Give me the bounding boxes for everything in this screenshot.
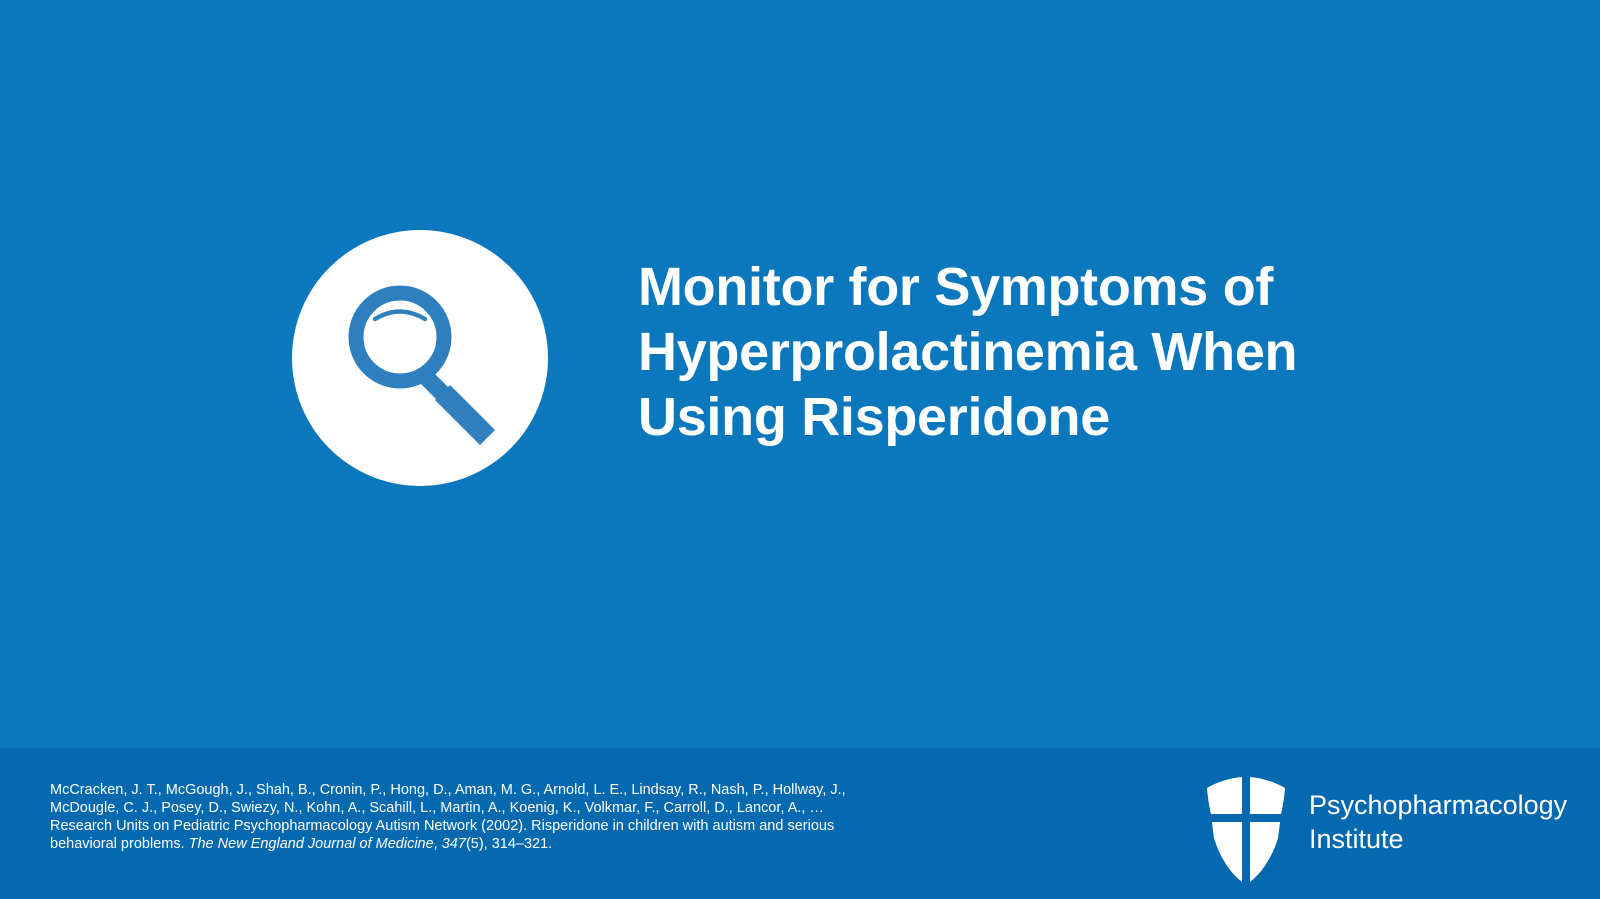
icon-badge [292,230,548,486]
citation-volume: 347 [442,836,466,852]
citation-journal: The New England Journal of Medicine [189,836,434,852]
citation-issue: (5), [466,836,492,852]
brand-lockup: Psychopharmacology Institute [1205,776,1567,894]
citation-year: (2002). [481,818,527,834]
brand-name: Psychopharmacology Institute [1309,776,1567,856]
title-block: Monitor for Symptoms of Hyperprolactinem… [638,255,1338,450]
slide-canvas: Monitor for Symptoms of Hyperprolactinem… [0,0,1600,899]
brand-name-line-2: Institute [1309,822,1567,856]
citation-pages: 314–321. [492,836,552,852]
shield-logo-icon [1205,776,1287,894]
slide-body: Monitor for Symptoms of Hyperprolactinem… [0,0,1600,748]
page-title: Monitor for Symptoms of Hyperprolactinem… [638,255,1338,450]
slide-footer: McCracken, J. T., McGough, J., Shah, B.,… [0,748,1600,899]
brand-name-line-1: Psychopharmacology [1309,788,1567,822]
citation-reference: McCracken, J. T., McGough, J., Shah, B.,… [50,781,880,853]
magnifying-glass-icon [292,230,548,486]
citation-separator: , [434,836,442,852]
